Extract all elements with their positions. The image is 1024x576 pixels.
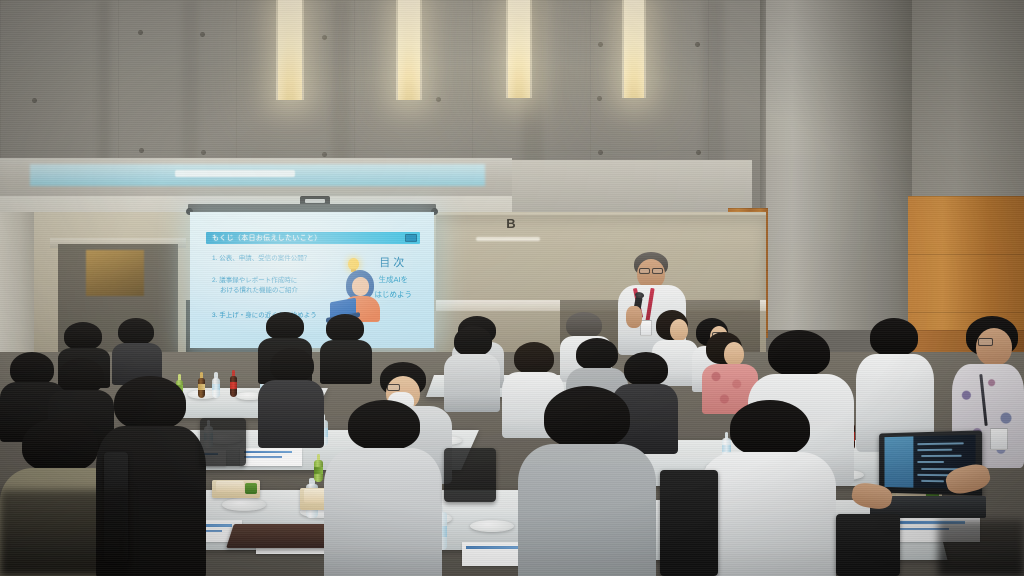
attendee-hair [870, 318, 918, 356]
illustration-face [352, 277, 369, 296]
slide-heading-block: 目次 生成AIを はじめよう [375, 254, 413, 300]
attendee-head [976, 328, 1012, 366]
attendee-hair [118, 318, 154, 345]
attendee-hair [454, 326, 492, 356]
wall-downlight [476, 237, 540, 241]
slide-title-text: もくじ（本日お伝えしたいこと） [212, 233, 322, 243]
attendee-head [724, 342, 744, 366]
lightbulb-icon [348, 258, 359, 270]
foreground-shadow [0, 490, 130, 576]
glasses-icon [652, 268, 663, 274]
slide-heading-main: 目次 [375, 254, 413, 270]
formwork-tie-hole [139, 148, 144, 153]
attendee-hair [768, 330, 830, 376]
concrete-column [766, 0, 912, 330]
water-bottle [212, 372, 220, 398]
attendee-torso [700, 452, 836, 576]
code-line [917, 448, 952, 450]
ceiling-light-slot [508, 0, 530, 98]
room-sign-b: B [505, 216, 517, 232]
formwork-tie-hole [201, 150, 206, 155]
ceiling-soffit-right [512, 160, 752, 212]
plate [222, 498, 266, 511]
attendee-torso [444, 354, 500, 412]
glasses-icon [639, 268, 650, 274]
attendee-hair [348, 400, 420, 450]
attendee [320, 314, 372, 378]
code-line [917, 461, 944, 463]
alcove-ornament [86, 250, 144, 296]
green-tea-bottle [314, 454, 323, 482]
attendee-torso [320, 340, 372, 384]
plate [470, 520, 514, 532]
ceiling-light-slot [398, 0, 420, 100]
attendee-foreground [700, 400, 836, 576]
code-line [921, 480, 945, 482]
attendee-hair [266, 312, 304, 340]
attendee [258, 348, 324, 444]
formwork-tie-hole [32, 98, 37, 103]
formwork-tie-hole [597, 96, 602, 101]
attendee-hair [544, 386, 630, 448]
presenter-hand [626, 306, 642, 328]
slide-bullet-1: 1. 公表、申請、受信の案件公開？ [212, 254, 310, 264]
attendee-hair [514, 342, 554, 374]
attendee-hair [730, 400, 810, 456]
ceiling-light-slot [624, 0, 644, 98]
slide-bullet-2: 2. 議事録やレポート作成時に [212, 276, 297, 286]
attendee-hair [114, 376, 186, 430]
formwork-tie-hole [695, 42, 700, 47]
ceiling-light-slot [278, 0, 302, 100]
name-badge [990, 428, 1008, 450]
slide-logo-badge [405, 234, 417, 242]
name-badge [640, 320, 652, 336]
attendee-hair [270, 348, 314, 382]
formwork-tie-hole [598, 42, 603, 47]
code-line [921, 455, 962, 457]
cola-bottle [230, 370, 237, 397]
chair [200, 418, 246, 466]
attendee-torso [518, 444, 656, 576]
projected-slide: もくじ（本日お伝えしたいこと） 1. 公表、申請、受信の案件公開？ 2. 議事録… [190, 212, 434, 348]
formwork-tie-hole [436, 97, 441, 102]
handout [240, 448, 302, 466]
glasses-icon [978, 338, 993, 346]
code-line [917, 474, 950, 476]
chair [836, 514, 900, 576]
attendee-foreground [324, 400, 442, 576]
attendee [444, 326, 500, 408]
slide-heading-sub-1: 生成AIを [375, 274, 413, 285]
boxed-lunch [212, 480, 260, 498]
projection-screen: もくじ（本日お伝えしたいこと） 1. 公表、申請、受信の案件公開？ 2. 議事録… [188, 204, 436, 348]
ceiling-light-strip [175, 170, 295, 177]
formwork-tie-hole [322, 35, 327, 40]
slide-bullet-2-cont: おける慣れた機能のご紹介 [220, 286, 298, 296]
attendee-hair [326, 314, 364, 342]
photograph: B もくじ（本日お伝えしたいこと） 1. 公表、申請、受信の案件公開？ 2. 議… [0, 0, 1024, 576]
code-line [917, 442, 963, 445]
attendee-hair [566, 312, 602, 338]
foreground-shadow [938, 520, 1024, 576]
attendee-torso [258, 380, 324, 448]
formwork-tie-hole [696, 150, 701, 155]
formwork-tie-hole [598, 150, 603, 155]
attendee-hair [22, 418, 98, 472]
attendee [856, 318, 934, 448]
laptop-screen-sidebar [885, 437, 914, 488]
attendee-torso [324, 448, 442, 576]
attendee-head [670, 319, 688, 341]
slide-title-bar: もくじ（本日お伝えしたいこと） [206, 232, 420, 244]
glasses-icon [387, 384, 400, 391]
attendee [112, 318, 162, 380]
concrete-wall-right [910, 0, 1024, 200]
formwork-tie-hole [200, 32, 205, 37]
screen-roller-bar [188, 204, 436, 212]
attendee-foreground [518, 386, 656, 576]
chair [660, 470, 718, 576]
formwork-tie-hole [322, 152, 327, 157]
attendee-hair [64, 322, 102, 350]
formwork-tie-hole [138, 30, 143, 35]
attendee-hair [624, 352, 668, 386]
slide-heading-sub-2: はじめよう [375, 289, 413, 300]
chair [444, 448, 496, 502]
back-wall-recess [436, 215, 766, 305]
